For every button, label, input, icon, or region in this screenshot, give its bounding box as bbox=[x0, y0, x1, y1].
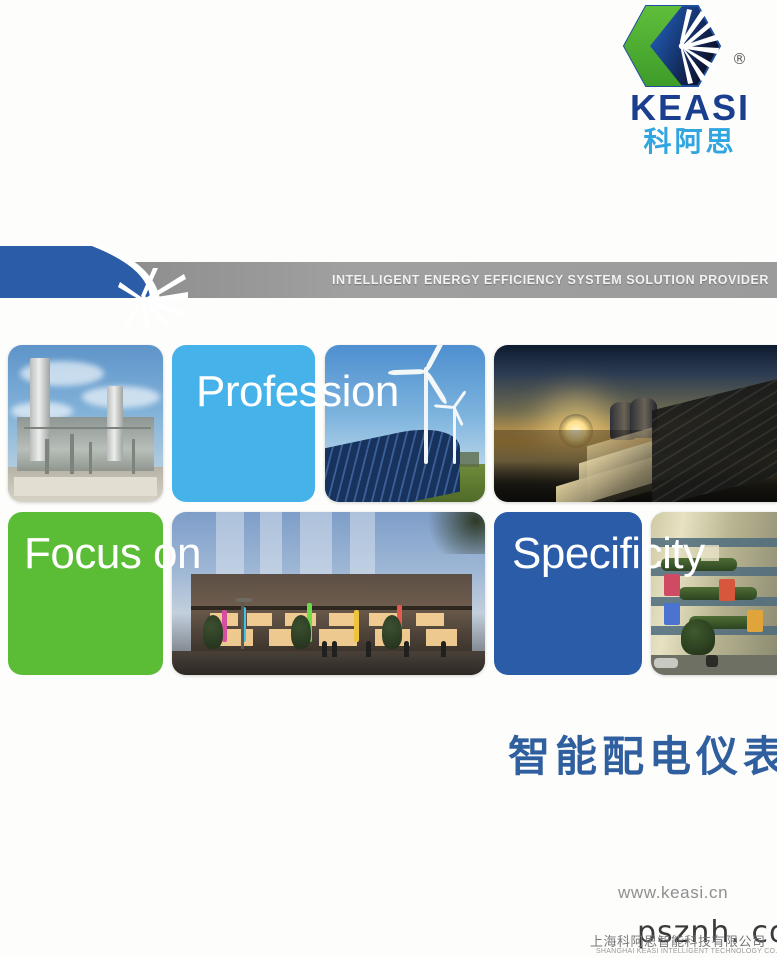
tagline-text: INTELLIGENT ENERGY EFFICIENCY SYSTEM SOL… bbox=[332, 273, 769, 287]
tagline-banner bbox=[0, 236, 777, 308]
brand-logo-block: ® KEASI 科阿思 bbox=[608, 4, 777, 166]
brochure-cover: ® KEASI 科阿思 bbox=[0, 0, 777, 957]
word-profession: Profession bbox=[196, 370, 399, 414]
power-plant-photo bbox=[8, 345, 163, 502]
word-focus-on: Focus on bbox=[24, 532, 201, 576]
registered-trademark-icon: ® bbox=[732, 52, 747, 67]
keasi-hexagon-logo-icon bbox=[620, 4, 724, 88]
company-name-en: SHANGHAI KEASI INTELLIGENT TECHNOLOGY CO… bbox=[596, 948, 777, 955]
brand-name-cn: 科阿思 bbox=[616, 128, 764, 156]
word-specificity: Specificity bbox=[512, 532, 705, 576]
page-title: 智能配电仪表 bbox=[508, 736, 777, 778]
brand-name-en: KEASI bbox=[616, 90, 764, 126]
starburst-icon bbox=[118, 268, 190, 330]
sunset-solar-photo bbox=[494, 345, 777, 502]
shopping-mall-photo bbox=[172, 512, 485, 675]
website-url[interactable]: www.keasi.cn bbox=[618, 883, 728, 903]
